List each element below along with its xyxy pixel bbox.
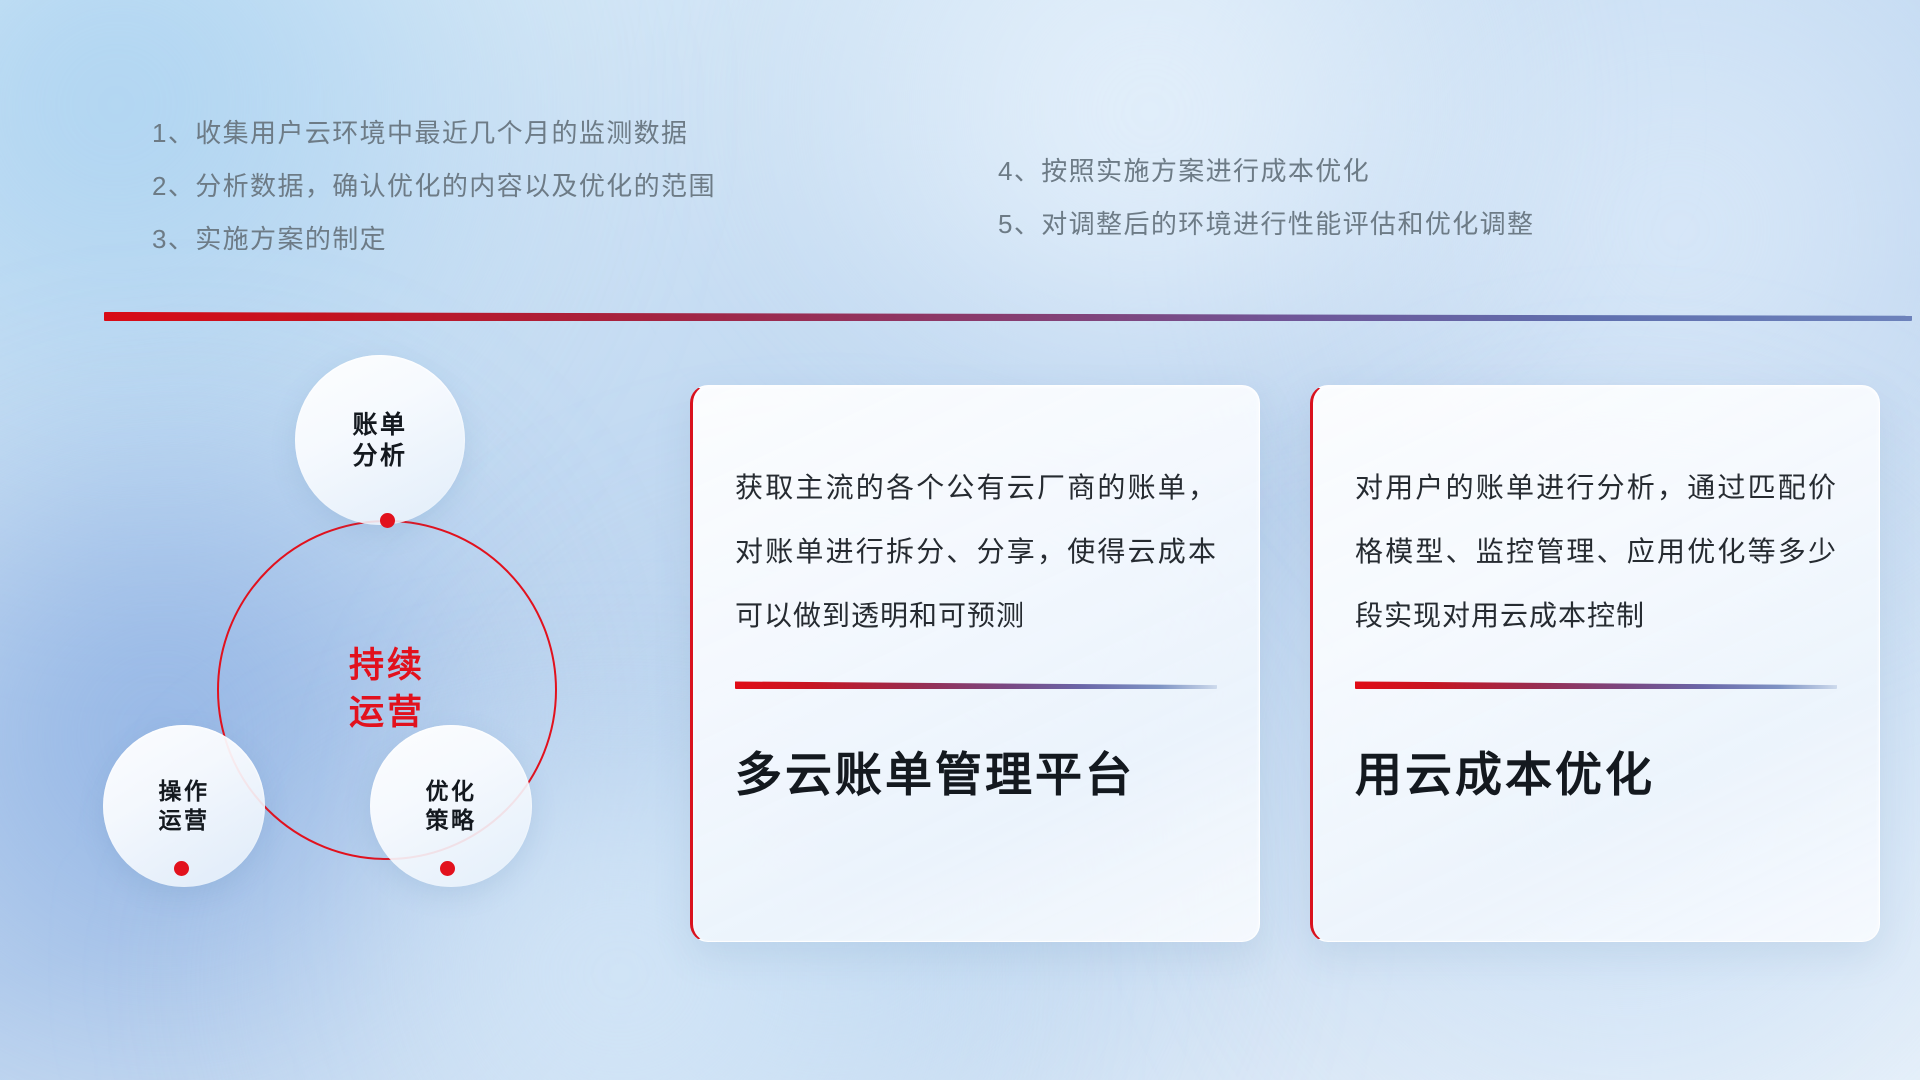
card-1-title: 多云账单管理平台 xyxy=(735,747,1217,803)
card-2-title: 用云成本优化 xyxy=(1355,747,1837,803)
diagram-node-dot-top xyxy=(380,513,395,528)
step-item-3: 3、实施方案的制定 xyxy=(152,226,716,252)
center-label-line-2: 运营 xyxy=(349,692,425,735)
diagram-bubble-billing-analysis[interactable]: 账单 分析 xyxy=(295,355,465,525)
bubble-top-line-2: 分析 xyxy=(352,441,407,471)
feature-card-cost-optimization[interactable]: 对用户的账单进行分析，通过匹配价格模型、监控管理、应用优化等多少段实现对用云成本… xyxy=(1310,385,1880,942)
steps-left-column: 1、收集用户云环境中最近几个月的监测数据 2、分析数据，确认优化的内容以及优化的… xyxy=(152,120,716,252)
card-2-body-text: 对用户的账单进行分析，通过匹配价格模型、监控管理、应用优化等多少段实现对用云成本… xyxy=(1355,456,1837,647)
bubble-left-line-1: 操作 xyxy=(159,778,210,806)
card-2-divider xyxy=(1355,681,1837,689)
feature-card-multicloud-billing[interactable]: 获取主流的各个公有云厂商的账单，对账单进行拆分、分享，使得云成本可以做到透明和可… xyxy=(690,385,1260,942)
center-label-line-1: 持续 xyxy=(349,645,425,688)
step-item-1: 1、收集用户云环境中最近几个月的监测数据 xyxy=(152,120,716,146)
diagram-node-dot-right xyxy=(440,861,455,876)
bubble-right-line-2: 策略 xyxy=(426,807,477,835)
cycle-diagram: 持续 运营 账单 分析 操作 运营 优化 策略 xyxy=(95,355,655,945)
card-1-divider xyxy=(735,681,1217,689)
step-item-5: 5、对调整后的环境进行性能评估和优化调整 xyxy=(998,211,1534,237)
bubble-left-line-2: 运营 xyxy=(159,807,210,835)
card-1-body-text: 获取主流的各个公有云厂商的账单，对账单进行拆分、分享，使得云成本可以做到透明和可… xyxy=(735,456,1217,647)
bubble-top-line-1: 账单 xyxy=(352,410,407,440)
slide-canvas: 1、收集用户云环境中最近几个月的监测数据 2、分析数据，确认优化的内容以及优化的… xyxy=(0,0,1920,1080)
step-item-4: 4、按照实施方案进行成本优化 xyxy=(998,158,1534,184)
diagram-node-dot-left xyxy=(174,861,189,876)
steps-right-column: 4、按照实施方案进行成本优化 5、对调整后的环境进行性能评估和优化调整 xyxy=(998,158,1534,237)
step-item-2: 2、分析数据，确认优化的内容以及优化的范围 xyxy=(152,173,716,199)
bubble-right-line-1: 优化 xyxy=(426,778,477,806)
